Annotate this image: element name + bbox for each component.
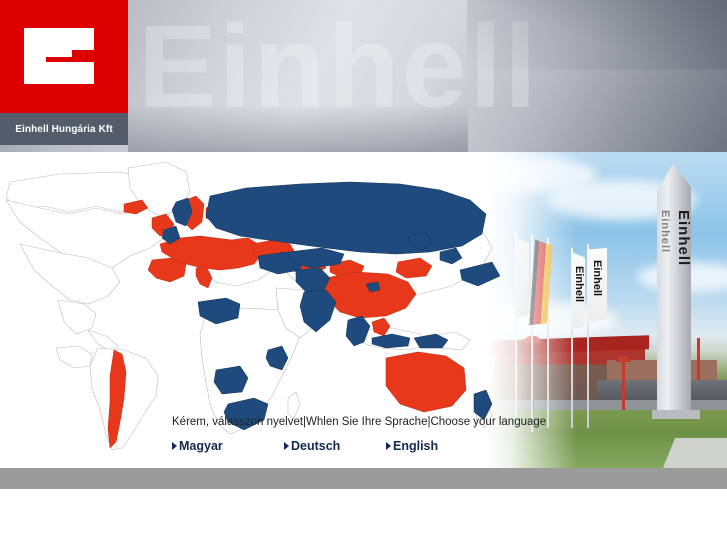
company-name-label: Einhell Hungária Kft: [15, 124, 113, 135]
einhell-logo-block[interactable]: [0, 0, 128, 113]
world-map: [0, 152, 500, 452]
country-madagascar: [288, 392, 300, 418]
language-link-english[interactable]: English: [386, 439, 438, 453]
site-header: Einhell Einhell Hungária Kft: [0, 0, 727, 152]
flag-einhell-2: Einhell: [587, 248, 607, 324]
logo-bar-middle: [46, 45, 72, 57]
company-name-plate: Einhell Hungária Kft: [0, 113, 128, 145]
chevron-right-icon: [172, 442, 177, 450]
paved-path: [663, 438, 727, 468]
country-angola-blue-highlight: [214, 366, 248, 394]
footer-blank-area: [0, 489, 727, 545]
flag-pole: [531, 234, 533, 432]
header-watermark-wordmark: Einhell: [138, 8, 539, 126]
language-chooser: Kérem, válasszon nyelvet|Whlen Sie Ihre …: [172, 416, 524, 453]
language-link-label: Deutsch: [291, 439, 340, 453]
language-link-label: English: [393, 439, 438, 453]
country-caribbean: [56, 346, 92, 368]
pylon-label-shadow: Einhell: [658, 210, 671, 296]
world-map-svg: [0, 152, 500, 452]
einhell-e-logo-icon: [24, 28, 94, 84]
flag-gray: [515, 238, 529, 318]
language-link-list: Magyar Deutsch English: [172, 439, 524, 453]
flag-einhell-label: Einhell: [573, 266, 585, 302]
country-mexico: [58, 300, 96, 334]
flag-einhell-1: Einhell: [571, 252, 585, 330]
flag-einhell-label: Einhell: [591, 260, 603, 296]
chevron-right-icon: [284, 442, 289, 450]
header-top-right-shade: [467, 0, 727, 70]
country-spain-portugal-highlight: [148, 258, 186, 282]
lamp-head: [616, 356, 631, 362]
language-link-deutsch[interactable]: Deutsch: [284, 439, 386, 453]
language-prompt: Kérem, válasszon nyelvet|Whlen Sie Ihre …: [172, 416, 524, 428]
footer-bar: [0, 468, 727, 489]
language-link-label: Magyar: [179, 439, 223, 453]
language-link-magyar[interactable]: Magyar: [172, 439, 284, 453]
lamp-post: [622, 360, 625, 410]
pylon-base: [652, 410, 700, 419]
chevron-right-icon: [386, 442, 391, 450]
hero-stage: Einhell Einhell Einhell Einhell: [0, 152, 727, 468]
logo-bar-bottom: [24, 62, 94, 84]
header-bottom-shade: [128, 104, 468, 152]
lamp-post: [697, 338, 700, 380]
pylon-label: Einhell: [675, 210, 691, 302]
